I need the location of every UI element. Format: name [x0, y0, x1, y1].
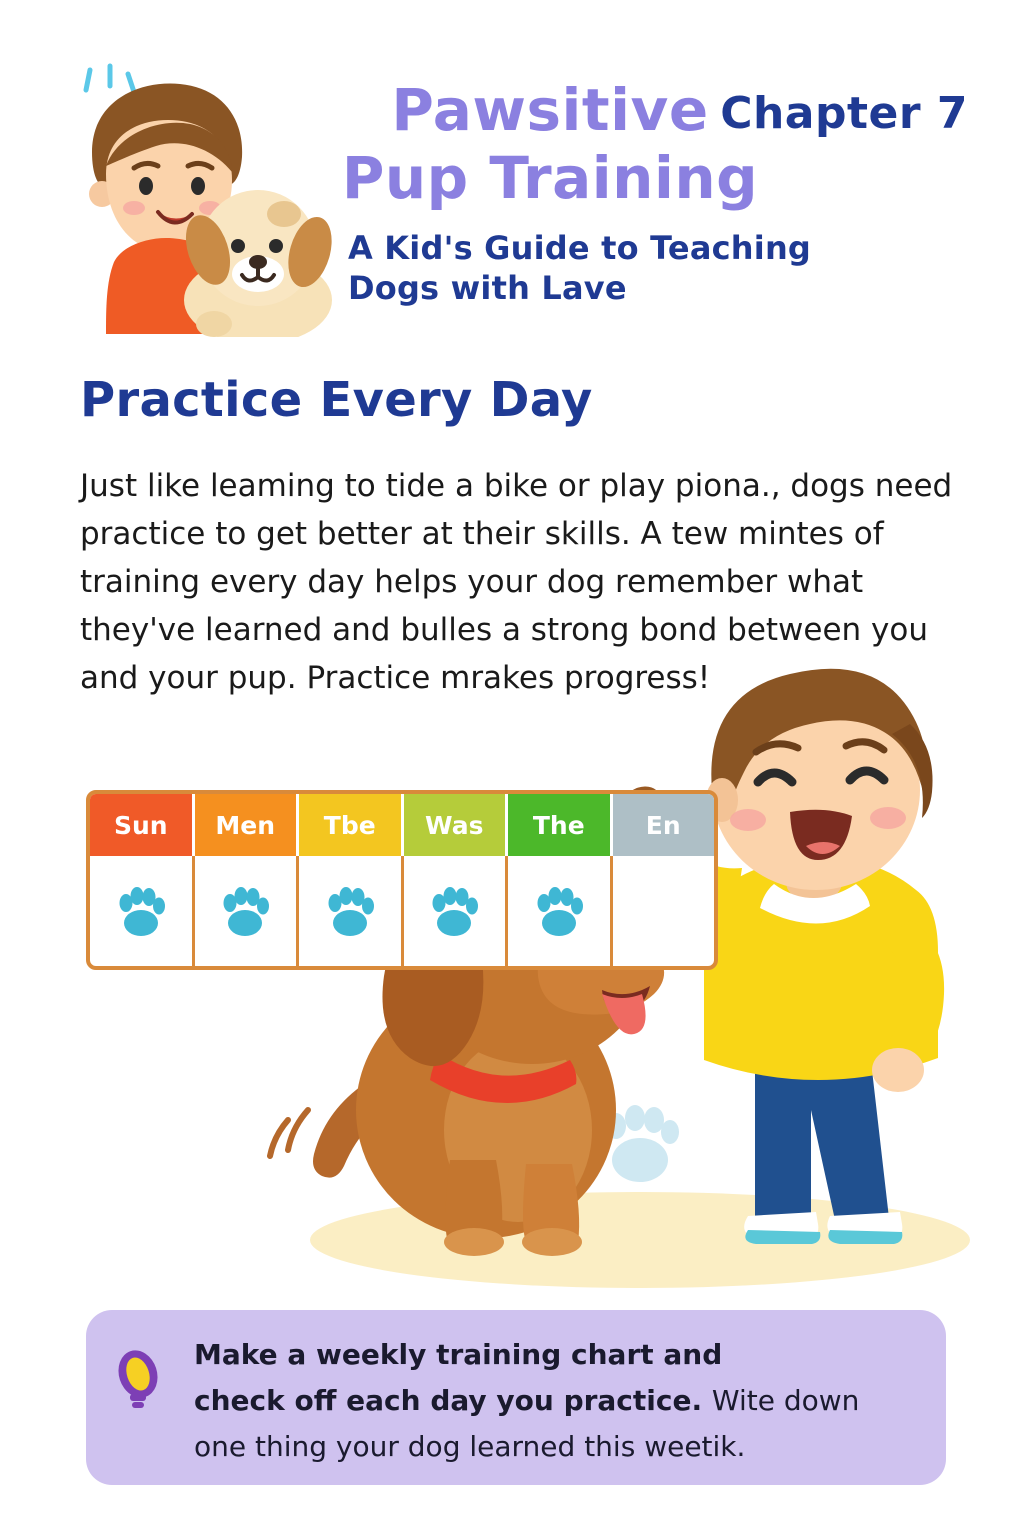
weekly-practice-chart[interactable]: Sun Men Tbe Was The En [86, 790, 718, 970]
section-heading: Practice Every Day [80, 372, 593, 428]
chart-day-header-men: Men [195, 794, 300, 856]
tip-text: Make a weekly training chart and check o… [194, 1332, 924, 1470]
chart-cell-the[interactable] [508, 856, 613, 966]
boy-with-sitting-dog-illustration [250, 640, 1010, 1300]
chart-day-header-tbe: Tbe [299, 794, 404, 856]
paw-print-icon [113, 885, 169, 937]
tip-line-3: one thing your dog learned this weetik. [194, 1424, 924, 1470]
page-header: Pawsitive Pup Training A Kid's Guide to … [0, 0, 1024, 350]
chart-day-header-sun: Sun [90, 794, 195, 856]
chart-cell-men[interactable] [195, 856, 300, 966]
motion-lines [270, 1110, 308, 1156]
book-subtitle: A Kid's Guide to Teaching Dogs with Lave [270, 228, 830, 308]
tip-line-2a: check off each day you practice. [194, 1384, 702, 1417]
chart-check-row [90, 856, 714, 966]
book-title-line-2: Pup Training [270, 146, 830, 210]
chart-header-row: Sun Men Tbe Was The En [90, 794, 714, 856]
chapter-label: Chapter 7 [720, 88, 968, 139]
book-page: Pawsitive Pup Training A Kid's Guide to … [0, 0, 1024, 1536]
paw-print-icon [606, 1105, 679, 1182]
chart-day-header-the: The [508, 794, 613, 856]
chart-cell-en[interactable] [613, 856, 715, 966]
chart-cell-sun[interactable] [90, 856, 195, 966]
chart-cell-was[interactable] [404, 856, 509, 966]
tip-line-2b: Wite down [712, 1384, 860, 1417]
sparkle-icon [86, 66, 134, 92]
tip-line-2: check off each day you practice. Wite do… [194, 1378, 924, 1424]
chart-day-header-was: Was [404, 794, 509, 856]
lightbulb-icon [110, 1348, 166, 1410]
tip-callout-box: Make a weekly training chart and check o… [86, 1310, 946, 1485]
paw-print-icon [322, 885, 378, 937]
paw-print-icon [531, 885, 587, 937]
tip-line-1: Make a weekly training chart and [194, 1332, 924, 1378]
paw-print-icon [426, 885, 482, 937]
chart-cell-tbe[interactable] [299, 856, 404, 966]
paw-print-icon [217, 885, 273, 937]
chart-day-header-en: En [613, 794, 715, 856]
